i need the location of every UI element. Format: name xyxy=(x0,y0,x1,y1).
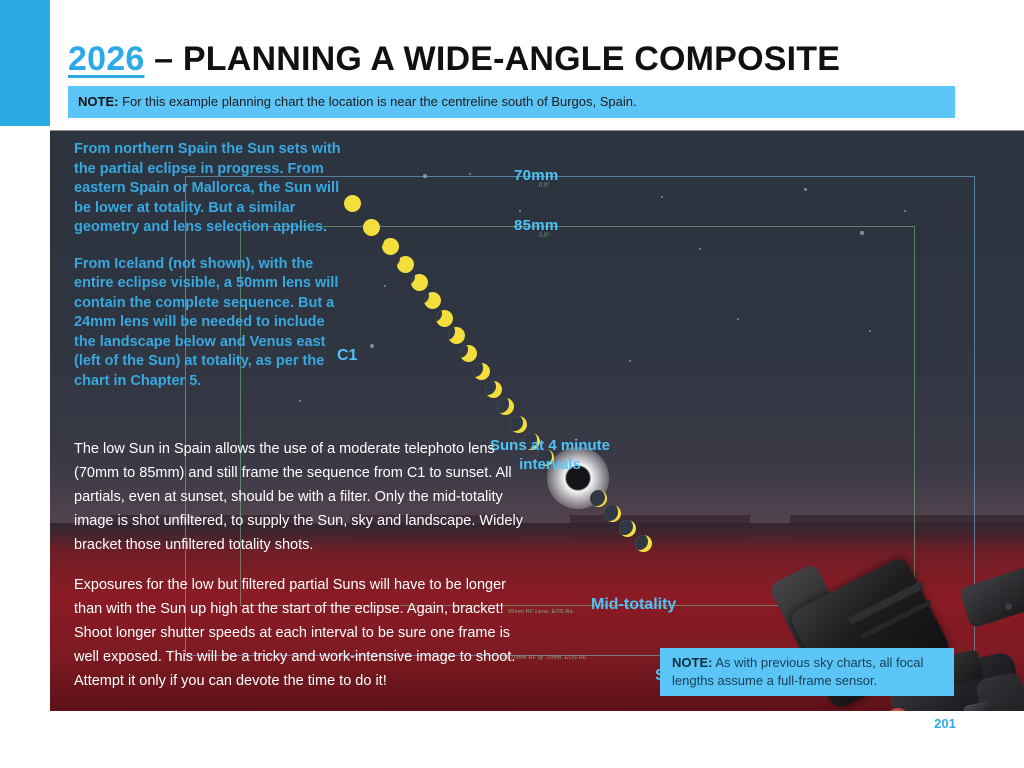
sun-disc xyxy=(497,398,514,415)
cyan-text-block: From northern Spain the Sun sets with th… xyxy=(74,140,346,408)
accent-bar xyxy=(0,0,50,126)
moon-shadow xyxy=(485,381,496,396)
note-banner-bottom: NOTE: As with previous sky charts, all f… xyxy=(660,648,954,696)
title-rest: – PLANNING A WIDE-ANGLE COMPOSITE xyxy=(154,40,840,78)
sun-disc xyxy=(363,219,380,236)
sun-disc xyxy=(424,292,441,309)
moon-shadow xyxy=(497,398,509,413)
moon-shadow xyxy=(590,490,605,506)
page-number: 201 xyxy=(925,716,965,731)
sun-disc xyxy=(397,256,414,273)
sun-disc xyxy=(510,416,527,433)
sun-disc xyxy=(448,327,465,344)
slide: 2026 – PLANNING A WIDE-ANGLE COMPOSITE N… xyxy=(0,0,1024,768)
sun-disc xyxy=(619,520,636,537)
sun-disc xyxy=(635,535,652,552)
moon-shadow xyxy=(460,345,469,359)
moon-shadow xyxy=(510,416,523,432)
moon-shadow xyxy=(604,505,619,521)
cyan-paragraph-1: From northern Spain the Sun sets with th… xyxy=(74,140,346,238)
moon-shadow xyxy=(411,274,416,286)
note-top-bold: NOTE: xyxy=(78,94,118,109)
moon-shadow xyxy=(397,256,400,268)
sun-disc xyxy=(411,274,428,291)
moon-shadow xyxy=(635,535,649,551)
moon-shadow xyxy=(448,327,456,340)
sun-disc xyxy=(460,345,477,362)
note-bottom-bold: NOTE: xyxy=(672,655,712,670)
note-banner-top: NOTE: For this example planning chart th… xyxy=(68,86,955,118)
moon-shadow xyxy=(436,310,443,323)
fov-sublabel-70mm: 0.0° xyxy=(539,183,550,189)
fov-label-85mm: 85mm xyxy=(514,217,559,234)
title-year: 2026 xyxy=(68,40,144,78)
intervalometer-led xyxy=(1005,603,1012,610)
sun-disc xyxy=(344,195,361,212)
sun-disc xyxy=(436,310,453,327)
white-paragraph-2: Exposures for the low but filtered parti… xyxy=(74,573,526,693)
fov-sublabel-85mm: 0.0° xyxy=(539,233,550,239)
sun-disc xyxy=(485,381,502,398)
intervalometer xyxy=(959,563,1024,629)
moon-shadow xyxy=(382,238,385,249)
moon-shadow xyxy=(473,363,483,377)
moon-shadow xyxy=(424,292,430,304)
moon-shadow xyxy=(619,520,633,536)
fov-label-70mm: 70mm xyxy=(514,167,559,184)
sun-disc xyxy=(382,238,399,255)
moon-shadow xyxy=(363,219,365,230)
white-paragraph-1: The low Sun in Spain allows the use of a… xyxy=(74,437,526,557)
sun-disc xyxy=(473,363,490,380)
label-mid-totality: Mid-totality xyxy=(591,596,676,614)
cyan-paragraph-2: From Iceland (not shown), with the entir… xyxy=(74,255,346,392)
note-top-text: For this example planning chart the loca… xyxy=(118,94,636,109)
white-text-block: The low Sun in Spain allows the use of a… xyxy=(74,437,526,709)
page-title: 2026 – PLANNING A WIDE-ANGLE COMPOSITE xyxy=(68,36,968,82)
